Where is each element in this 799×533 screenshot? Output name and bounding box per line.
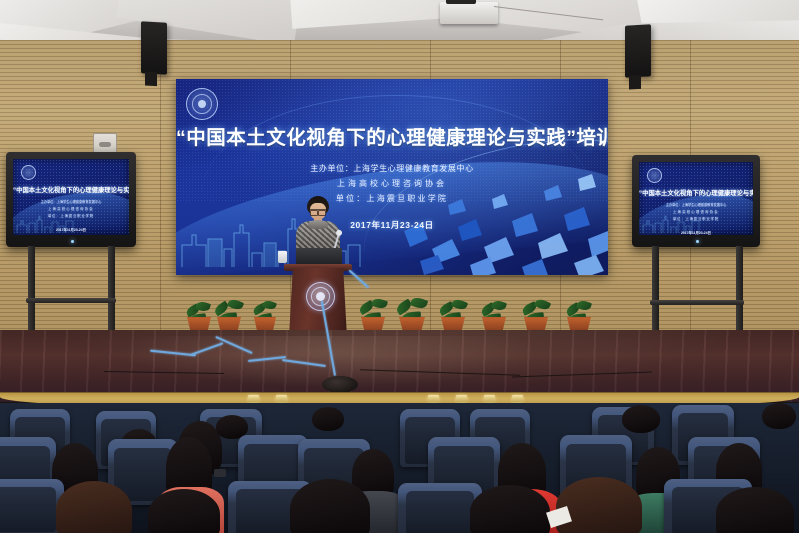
audience-head bbox=[470, 485, 550, 533]
banner-subtitle-1: 主办单位：上海学生心理健康教育发展中心 bbox=[176, 163, 608, 174]
wall-speaker-left bbox=[141, 21, 167, 74]
stage-edge-light bbox=[428, 395, 439, 402]
display-screen-left[interactable]: “中国本土文化视角下的心理健康理论与实践”培训 主办单位：上海学生心理健康教育发… bbox=[6, 152, 136, 247]
tv-screen-content: “中国本土文化视角下的心理健康理论与实践”培训 主办单位：上海学生心理健康教育发… bbox=[639, 162, 753, 235]
glasses-icon bbox=[310, 209, 326, 214]
display-screen-right[interactable]: “中国本土文化视角下的心理健康理论与实践”培训 主办单位：上海学生心理健康教育发… bbox=[632, 155, 760, 247]
stage-edge-light bbox=[456, 395, 467, 402]
screen-subtitle-1: 主办单位：上海学生心理健康教育发展中心 bbox=[639, 202, 753, 207]
handheld-phone bbox=[214, 469, 226, 477]
stage-edge-light bbox=[512, 395, 523, 402]
audience-head bbox=[290, 479, 370, 533]
potted-plant bbox=[440, 292, 466, 330]
plant-pot bbox=[481, 317, 507, 330]
banner-subtitle-3: 单位：上海震旦职业学院 bbox=[176, 193, 608, 204]
tv-power-led bbox=[696, 240, 699, 243]
screen-seal-icon bbox=[21, 165, 36, 180]
audience-head bbox=[716, 487, 794, 533]
screen-subtitle-2: 上海高校心理咨询协会 bbox=[13, 206, 129, 211]
plant-pot bbox=[253, 317, 277, 330]
audience-head bbox=[312, 407, 344, 431]
plant-pot bbox=[398, 317, 426, 330]
audience-head bbox=[622, 405, 660, 433]
plant-pot bbox=[523, 317, 549, 330]
wall-speaker-right bbox=[625, 24, 651, 77]
tv-power-led bbox=[71, 240, 74, 243]
plant-pot bbox=[216, 317, 242, 330]
stage-edge-light bbox=[248, 395, 259, 402]
auditorium-seat[interactable] bbox=[0, 479, 64, 533]
potted-plant bbox=[566, 294, 592, 330]
ceiling-projector bbox=[440, 2, 498, 24]
audience-head bbox=[148, 489, 220, 533]
audience-head bbox=[762, 403, 796, 429]
potted-plant bbox=[216, 292, 242, 330]
screen-title: “中国本土文化视角下的心理健康理论与实践”培训 bbox=[13, 185, 129, 194]
banner-title: “中国本土文化视角下的心理健康理论与实践”培训 bbox=[176, 121, 608, 150]
tv-screen-content: “中国本土文化视角下的心理健康理论与实践”培训 主办单位：上海学生心理健康教育发… bbox=[13, 159, 129, 235]
audience-head bbox=[556, 477, 642, 533]
wall-seam bbox=[160, 40, 161, 370]
potted-plant bbox=[360, 292, 386, 330]
screen-title: “中国本土文化视角下的心理健康理论与实践”培训 bbox=[639, 188, 753, 197]
plant-pot bbox=[186, 317, 212, 330]
potted-plant bbox=[253, 294, 277, 330]
banner-date: 2017年11月23-24日 bbox=[176, 219, 608, 231]
stage-edge-light bbox=[276, 395, 287, 402]
audience-head bbox=[56, 481, 132, 533]
banner-subtitle-2: 上海高校心理咨询协会 bbox=[176, 178, 608, 189]
presenter-collar bbox=[308, 220, 328, 229]
screen-subtitle-2: 上海高校心理咨询协会 bbox=[639, 209, 753, 214]
potted-plant bbox=[398, 290, 426, 330]
plant-pot bbox=[566, 317, 592, 330]
conference-hall-photo: “中国本土文化视角下的心理健康理论与实践”培训 主办单位：上海学生心理健康教育发… bbox=[0, 0, 799, 533]
lectern-seal-icon bbox=[306, 282, 335, 311]
coiled-cable bbox=[322, 376, 358, 393]
stage-backdrop-banner: “中国本土文化视角下的心理健康理论与实践”培训 主办单位：上海学生心理健康教育发… bbox=[176, 79, 608, 275]
potted-plant bbox=[186, 296, 212, 330]
stage-edge-light bbox=[484, 395, 495, 402]
screen-subtitle-1: 主办单位：上海学生心理健康教育发展中心 bbox=[13, 199, 129, 204]
potted-plant bbox=[523, 292, 549, 330]
plant-pot bbox=[360, 317, 386, 330]
potted-plant bbox=[481, 294, 507, 330]
screen-skyline-icon bbox=[15, 215, 77, 233]
tv-bezel: “中国本土文化视角下的心理健康理论与实践”培训 主办单位：上海学生心理健康教育发… bbox=[632, 155, 760, 247]
banner-seal-icon bbox=[186, 88, 218, 120]
screen-seal-icon bbox=[647, 168, 662, 183]
screen-skyline-icon bbox=[641, 215, 703, 233]
water-cup bbox=[278, 251, 287, 263]
seated-audience bbox=[0, 403, 799, 533]
plant-pot bbox=[440, 317, 466, 330]
tv-bezel: “中国本土文化视角下的心理健康理论与实践”培训 主办单位：上海学生心理健康教育发… bbox=[6, 152, 136, 247]
